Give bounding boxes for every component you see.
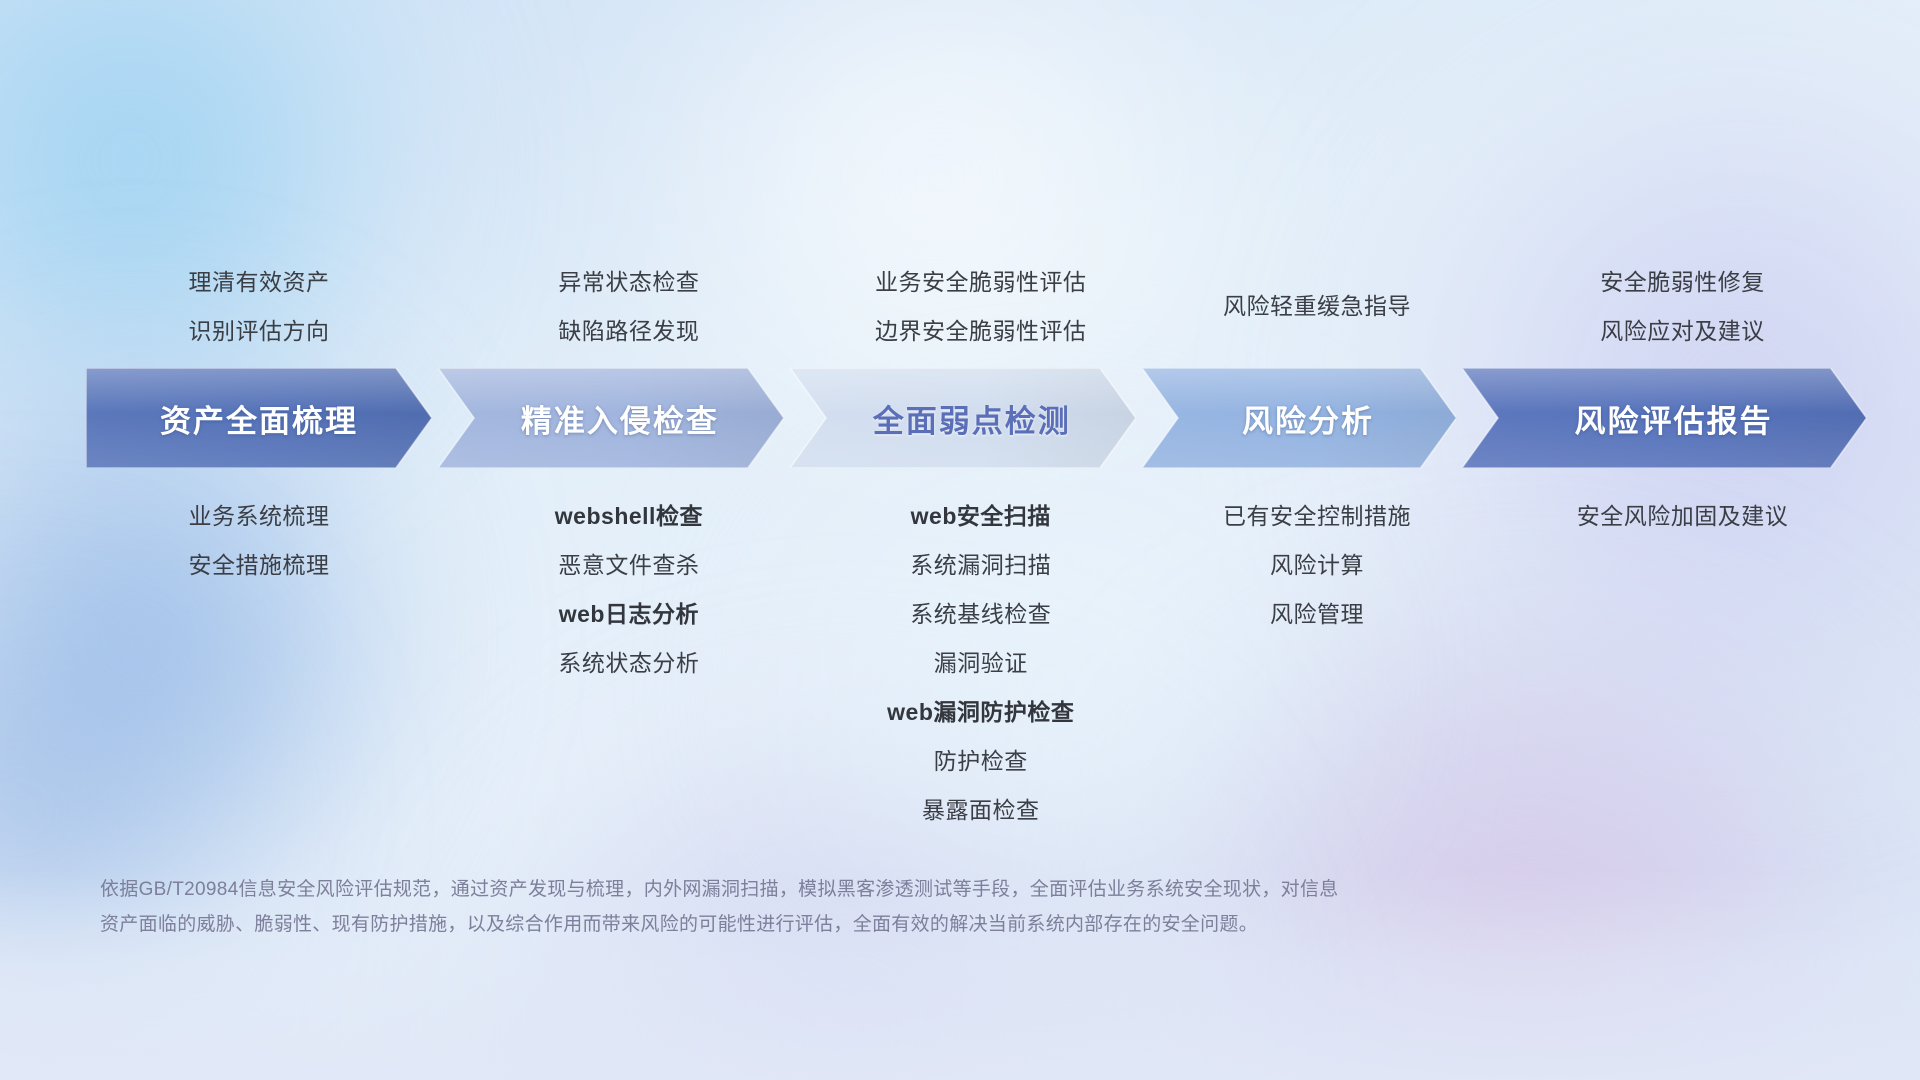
chevron-label-intrusion-check: 精准入侵检查: [521, 396, 719, 441]
stage-bottom-item: 风险计算: [1017, 541, 1617, 590]
footer-line-2: 资产面临的威胁、脆弱性、现有防护措施，以及综合作用而带来风险的可能性进行评估，全…: [100, 907, 1620, 942]
stage-bottom-item: 暴露面检查: [681, 786, 1281, 835]
stage-bottom-item: 安全风险加固及建议: [1383, 492, 1920, 541]
stage-bottom-item: 风险管理: [1017, 590, 1617, 639]
stage-bottom-item: 防护检查: [681, 737, 1281, 786]
chevron-stage-asset-inventory[interactable]: 资产全面梳理: [86, 368, 432, 468]
chevron-stage-assessment-report[interactable]: 风险评估报告: [1462, 368, 1867, 468]
stage-bottom-labels-assessment-report: 安全风险加固及建议: [1383, 492, 1920, 541]
chevron-label-weakness-detection: 全面弱点检测: [873, 396, 1071, 441]
footer-description: 依据GB/T20984信息安全风险评估规范，通过资产发现与梳理，内外网漏洞扫描，…: [100, 872, 1620, 942]
chevron-stage-weakness-detection[interactable]: 全面弱点检测: [790, 368, 1136, 468]
chevron-stage-risk-analysis[interactable]: 风险分析: [1142, 368, 1456, 468]
chevron-label-assessment-report: 风险评估报告: [1575, 396, 1773, 441]
process-diagram: 理清有效资产识别评估方向 异常状态检查缺陷路径发现 业务安全脆弱性评估边界安全脆…: [0, 0, 1920, 1080]
stage-top-labels-assessment-report: 安全脆弱性修复风险应对及建议: [1383, 258, 1920, 356]
stage-bottom-item: 漏洞验证: [681, 639, 1281, 688]
chevron-stage-intrusion-check[interactable]: 精准入侵检查: [438, 368, 784, 468]
chevron-label-risk-analysis: 风险分析: [1242, 396, 1374, 441]
process-chevron-bar: 资产全面梳理 精准入侵检查: [86, 368, 1868, 468]
stage-top-item: 安全脆弱性修复: [1383, 258, 1920, 307]
footer-line-1: 依据GB/T20984信息安全风险评估规范，通过资产发现与梳理，内外网漏洞扫描，…: [100, 872, 1620, 907]
stage-top-item: 风险应对及建议: [1383, 307, 1920, 356]
stage-bottom-item: web漏洞防护检查: [681, 688, 1281, 737]
chevron-label-asset-inventory: 资产全面梳理: [160, 396, 358, 441]
